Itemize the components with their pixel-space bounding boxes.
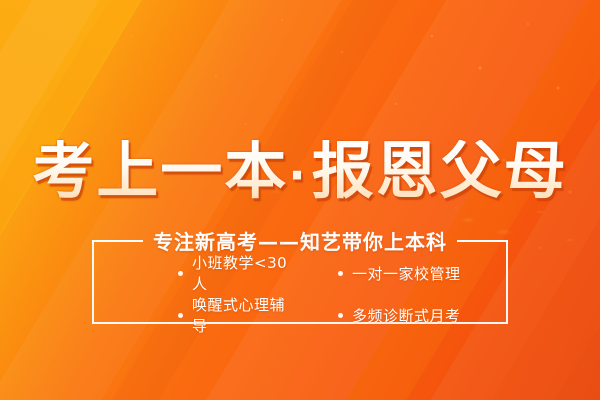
list-item: 一对一家校管理	[300, 252, 508, 294]
frame-top-right-segment	[457, 240, 508, 242]
feature-list: 小班教学<30人 一对一家校管理 唤醒式心理辅导 多频诊断式月考	[92, 250, 508, 322]
list-item: 唤醒式心理辅导	[92, 294, 300, 336]
page-title: 考上一本·报恩父母	[0, 140, 600, 202]
headline-left: 考上一本	[32, 134, 288, 207]
headline-separator-dot: ·	[288, 148, 311, 202]
promo-banner: 考上一本·报恩父母 专注新高考——知艺带你上本科 小班教学<30人 一对一家校管…	[0, 0, 600, 400]
feature-label: 一对一家校管理	[352, 263, 461, 284]
bullet-icon	[178, 313, 183, 318]
frame-top-left-segment	[92, 240, 143, 242]
list-item: 多频诊断式月考	[300, 294, 508, 336]
bullet-icon	[178, 271, 183, 276]
feature-label: 唤醒式心理辅导	[192, 294, 300, 336]
list-item: 小班教学<30人	[92, 252, 300, 294]
bullet-icon	[338, 313, 343, 318]
bullet-icon	[338, 271, 343, 276]
feature-label: 多频诊断式月考	[352, 305, 461, 326]
headline-right: 报恩父母	[312, 134, 568, 207]
feature-label: 小班教学<30人	[192, 252, 300, 294]
